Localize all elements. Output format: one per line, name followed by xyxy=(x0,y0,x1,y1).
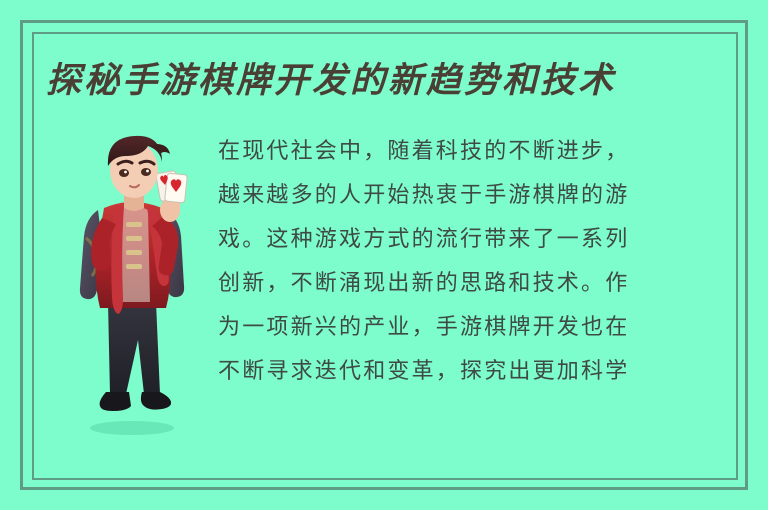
body-line: 创新，不断涌现出新的思路和技术。作 xyxy=(218,262,728,306)
character-eye-glint-right xyxy=(146,170,149,173)
character-eye-left xyxy=(119,169,129,177)
body-line: 不断寻求迭代和变革，探究出更加科学 xyxy=(218,350,728,394)
body-line: 为一项新兴的产业，手游棋牌开发也在 xyxy=(218,306,728,350)
body-line: 越来越多的人开始热衷于手游棋牌的游 xyxy=(218,174,728,218)
character-pants xyxy=(108,302,160,394)
playing-cards-icon xyxy=(156,170,188,202)
character-shadow xyxy=(90,421,174,435)
body-line: 在现代社会中，随着科技的不断进步， xyxy=(218,130,728,174)
character-shoe-right xyxy=(141,392,171,410)
poster-canvas: 探秘手游棋牌开发的新趋势和技术 xyxy=(0,0,768,510)
character-illustration-svg xyxy=(60,126,210,436)
body-line: 戏。这种游戏方式的流行带来了一系列 xyxy=(218,218,728,262)
character-eye-glint-left xyxy=(124,171,127,174)
character-shoe-left xyxy=(100,392,131,411)
character-sash-left xyxy=(111,206,124,314)
character-eye-right xyxy=(141,168,151,176)
body-text: 在现代社会中，随着科技的不断进步， 越来越多的人开始热衷于手游棋牌的游 戏。这种… xyxy=(218,130,728,394)
page-title: 探秘手游棋牌开发的新趋势和技术 xyxy=(46,58,726,104)
character-illustration xyxy=(60,126,210,436)
